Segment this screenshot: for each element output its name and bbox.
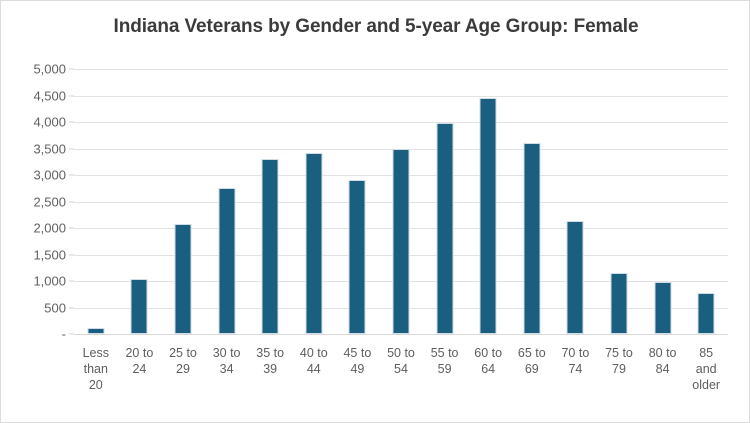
bar-slot [336, 69, 380, 334]
bar[interactable] [698, 293, 715, 334]
bar[interactable] [567, 221, 584, 334]
x-axis-tick-label: 35 to 39 [248, 345, 292, 377]
bar[interactable] [174, 224, 191, 334]
y-axis-tick-mark [69, 148, 74, 149]
y-axis-tick-mark [69, 307, 74, 308]
y-axis-tick-label: 1,500 [6, 247, 66, 262]
y-axis-tick-label: 1,000 [6, 274, 66, 289]
bar[interactable] [392, 149, 409, 334]
y-axis-tick-mark [69, 254, 74, 255]
x-axis-tick-label: 65 to 69 [510, 345, 554, 377]
y-axis-tick-label: 2,000 [6, 221, 66, 236]
y-axis-tick-mark [69, 228, 74, 229]
y-axis-tick-mark [69, 122, 74, 123]
bar[interactable] [654, 282, 671, 334]
bar-slot [292, 69, 336, 334]
bar-slot [379, 69, 423, 334]
bar-series [74, 69, 728, 334]
bar-slot [641, 69, 685, 334]
bar-slot [205, 69, 249, 334]
y-axis-tick-mark [69, 334, 74, 335]
bar-slot [597, 69, 641, 334]
y-axis-tick-mark [69, 201, 74, 202]
y-axis-tick-mark [69, 281, 74, 282]
x-axis-tick-label: 55 to 59 [423, 345, 467, 377]
bar[interactable] [305, 153, 322, 334]
x-axis-tick-label: 80 to 84 [641, 345, 685, 377]
x-axis-tick-label: 40 to 44 [292, 345, 336, 377]
y-axis-tick-label: - [6, 327, 66, 342]
bar-slot [510, 69, 554, 334]
x-axis-tick-label: 70 to 74 [554, 345, 598, 377]
y-axis-tick-mark [69, 175, 74, 176]
gridline [74, 334, 728, 335]
x-axis-tick-label: 50 to 54 [379, 345, 423, 377]
bar-slot [554, 69, 598, 334]
y-axis-tick-mark [69, 69, 74, 70]
bar[interactable] [349, 180, 366, 334]
bar-slot [118, 69, 162, 334]
y-axis-tick-label: 4,000 [6, 115, 66, 130]
bar-slot [74, 69, 118, 334]
x-axis-tick-label: 60 to 64 [466, 345, 510, 377]
y-axis-tick-label: 2,500 [6, 194, 66, 209]
x-axis-tick-label: 45 to 49 [336, 345, 380, 377]
chart-container: Indiana Veterans by Gender and 5-year Ag… [0, 0, 750, 423]
bar[interactable] [262, 159, 279, 334]
x-axis-tick-label: 75 to 79 [597, 345, 641, 377]
bar[interactable] [131, 279, 148, 334]
y-axis-tick-label: 500 [6, 300, 66, 315]
plot-area [74, 69, 728, 334]
x-axis-tick-label: 25 to 29 [161, 345, 205, 377]
x-axis-tick-label: 30 to 34 [205, 345, 249, 377]
chart-title: Indiana Veterans by Gender and 5-year Ag… [1, 16, 750, 38]
bar[interactable] [523, 143, 540, 334]
bar[interactable] [610, 273, 627, 334]
bar[interactable] [436, 123, 453, 334]
y-axis-tick-label: 5,000 [6, 62, 66, 77]
x-axis-tick-label: 20 to 24 [118, 345, 162, 377]
bar-slot [466, 69, 510, 334]
bar-slot [423, 69, 467, 334]
y-axis-tick-mark [69, 95, 74, 96]
y-axis-tick-label: 3,500 [6, 141, 66, 156]
bar-slot [684, 69, 728, 334]
y-axis-tick-label: 3,000 [6, 168, 66, 183]
y-axis-tick-label: 4,500 [6, 88, 66, 103]
bar-slot [248, 69, 292, 334]
x-axis-tick-label: Less than 20 [74, 345, 118, 393]
x-axis-tick-label: 85 and older [684, 345, 728, 393]
bar[interactable] [218, 188, 235, 334]
bar[interactable] [480, 98, 497, 334]
bar[interactable] [87, 328, 104, 334]
bar-slot [161, 69, 205, 334]
